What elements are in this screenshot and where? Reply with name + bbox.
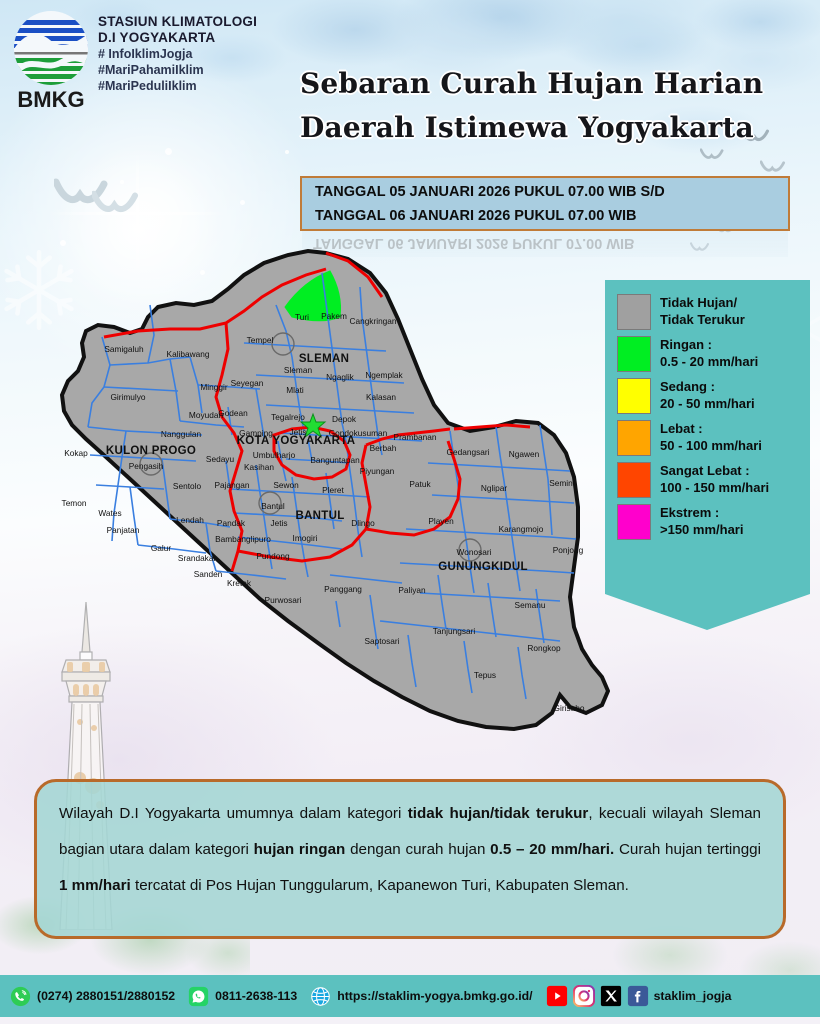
legend-item: Lebat :50 - 100 mm/hari <box>617 420 810 456</box>
facebook-icon[interactable] <box>627 985 649 1007</box>
legend-color-swatch <box>617 462 651 498</box>
summary-box: Wilayah D.I Yogyakarta umumnya dalam kat… <box>34 779 786 939</box>
website-url: https://staklim-yogya.bmkg.go.id/ <box>337 989 532 1003</box>
globe-icon <box>310 986 331 1007</box>
org-line-2: D.I YOGYAKARTA <box>98 30 308 46</box>
phone-contact[interactable]: (0274) 2880151/2880152 <box>10 986 175 1007</box>
whatsapp-contact[interactable]: 0811-2638-113 <box>188 986 297 1007</box>
website-contact[interactable]: https://staklim-yogya.bmkg.go.id/ <box>310 986 532 1007</box>
contact-footer: (0274) 2880151/2880152 0811-2638-113 htt… <box>0 975 820 1017</box>
organization-text: STASIUN KLIMATOLOGI D.I YOGYAKARTA # Inf… <box>98 14 308 94</box>
social-links[interactable]: staklim_jogja <box>546 985 732 1007</box>
hashtag-3: #MariPeduliIklim <box>98 78 308 94</box>
summary-bold-1: tidak hujan/tidak terukur <box>408 805 589 822</box>
summary-text: Wilayah D.I Yogyakarta umumnya dalam kat… <box>59 796 761 904</box>
legend-item: Sedang :20 - 50 mm/hari <box>617 378 810 414</box>
rainfall-map: KULON PROGOSLEMANBANTULGUNUNGKIDULKOTA Y… <box>30 245 610 745</box>
bird-icon <box>760 160 794 176</box>
whatsapp-icon <box>188 986 209 1007</box>
phone-number: (0274) 2880151/2880152 <box>37 989 175 1003</box>
hashtag-1: # InfoIklimJogja <box>98 46 308 62</box>
legend-color-swatch <box>617 294 651 330</box>
summary-seg-5: tercatat di Pos Hujan Tunggularum, Kapan… <box>131 877 629 894</box>
date-line-1: TANGGAL 05 JANUARI 2026 PUKUL 07.00 WIB … <box>315 180 788 204</box>
legend-item: Ringan :0.5 - 20 mm/hari <box>617 336 810 372</box>
summary-bold-2: hujan ringan <box>254 841 346 858</box>
title-line-1: Sebaran Curah Hujan Harian <box>300 62 800 106</box>
phone-icon <box>10 986 31 1007</box>
legend-label: Sangat Lebat :100 - 150 mm/hari <box>660 462 769 496</box>
legend-color-swatch <box>617 504 651 540</box>
svg-text:BMKG: BMKG <box>17 87 84 112</box>
hashtag-2: #MariPahamiIklim <box>98 62 308 78</box>
whatsapp-number: 0811-2638-113 <box>215 989 297 1003</box>
title-line-2: Daerah Istimewa Yogyakarta <box>300 106 800 150</box>
page-title: Sebaran Curah Hujan Harian Daerah Istime… <box>300 62 800 150</box>
summary-seg-3: dengan curah hujan <box>345 841 490 858</box>
footer-bottom-strip <box>0 1017 820 1024</box>
legend-color-swatch <box>617 336 651 372</box>
legend-item: Ekstrem :>150 mm/hari <box>617 504 810 540</box>
legend-tail-shape <box>605 588 810 630</box>
instagram-icon[interactable] <box>573 985 595 1007</box>
bird-icon <box>700 148 732 163</box>
legend-label: Tidak Hujan/Tidak Terukur <box>660 294 745 328</box>
social-handle: staklim_jogja <box>654 989 732 1003</box>
org-line-1: STASIUN KLIMATOLOGI <box>98 14 308 30</box>
rainfall-legend: Tidak Hujan/Tidak TerukurRingan :0.5 - 2… <box>605 280 810 588</box>
summary-bold-4: 1 mm/hari <box>59 877 131 894</box>
youtube-icon[interactable] <box>546 985 568 1007</box>
legend-color-swatch <box>617 378 651 414</box>
date-range-banner: TANGGAL 05 JANUARI 2026 PUKUL 07.00 WIB … <box>300 176 790 231</box>
legend-label: Ringan :0.5 - 20 mm/hari <box>660 336 758 370</box>
bmkg-logo: BMKG <box>10 8 92 112</box>
legend-label: Sedang :20 - 50 mm/hari <box>660 378 755 412</box>
legend-item: Sangat Lebat :100 - 150 mm/hari <box>617 462 810 498</box>
bird-icon <box>92 190 154 220</box>
legend-label: Ekstrem :>150 mm/hari <box>660 504 743 538</box>
summary-bold-3: 0.5 – 20 mm/hari. <box>490 841 614 858</box>
date-line-2: TANGGAL 06 JANUARI 2026 PUKUL 07.00 WIB <box>315 204 788 228</box>
summary-seg-4: Curah hujan tertinggi <box>614 841 761 858</box>
legend-label: Lebat :50 - 100 mm/hari <box>660 420 762 454</box>
summary-seg-1: Wilayah D.I Yogyakarta umumnya dalam kat… <box>59 805 408 822</box>
legend-color-swatch <box>617 420 651 456</box>
x-twitter-icon[interactable] <box>600 985 622 1007</box>
legend-item: Tidak Hujan/Tidak Terukur <box>617 294 810 330</box>
